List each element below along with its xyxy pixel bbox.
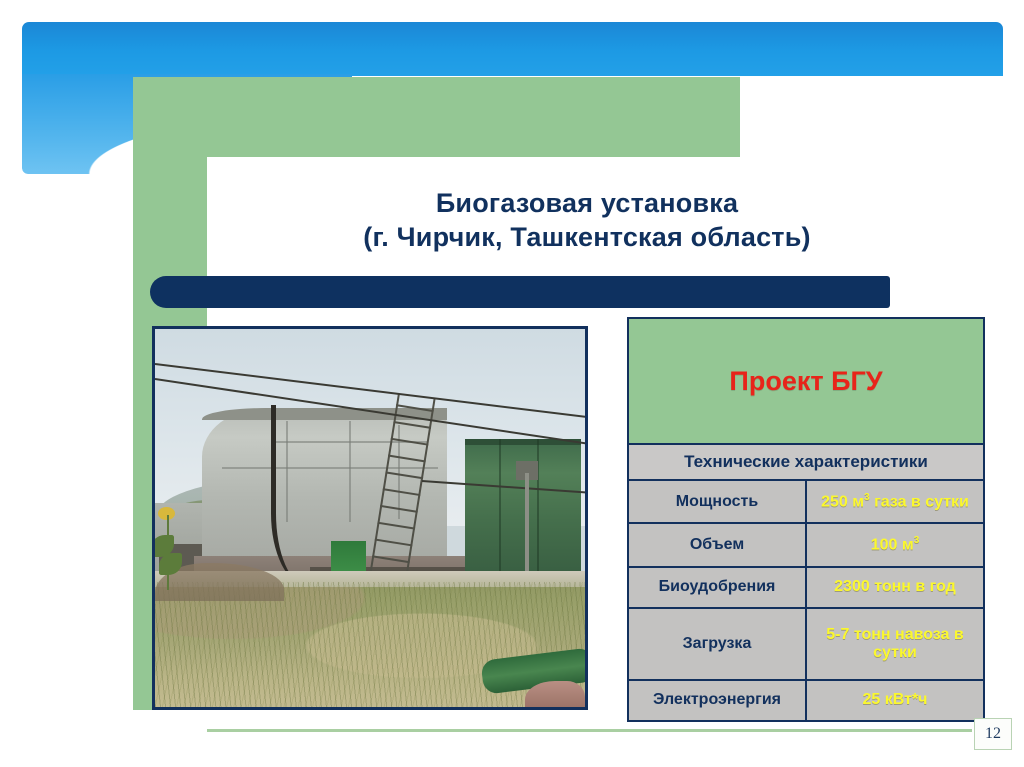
spec-label-power: Мощность [628, 480, 806, 523]
spec-label-volume: Объем [628, 523, 806, 566]
spec-label-load: Загрузка [628, 608, 806, 680]
table-row-subheader: Технические характеристики [628, 444, 984, 480]
photo-content [155, 329, 585, 707]
spec-table: Проект БГУ Технические характеристики Мо… [627, 317, 985, 722]
photo-green-tank [465, 439, 581, 575]
spec-value-load: 5-7 тонн навоза в сутки [806, 608, 984, 680]
spec-value-biofertilizer: 2300 тонн в год [806, 567, 984, 608]
page-number: 12 [974, 718, 1012, 750]
spec-value-power: 250 м3 газа в сутки [806, 480, 984, 523]
table-row: Биоудобрения 2300 тонн в год [628, 567, 984, 608]
spec-table-subheader: Технические характеристики [628, 444, 984, 480]
photo-black-hose [271, 405, 323, 586]
spec-table-title: Проект БГУ [628, 318, 984, 444]
photo-sunflower [155, 507, 189, 590]
decorative-blue-band [22, 22, 1003, 76]
title-underline-bar [150, 276, 890, 308]
spec-value-volume: 100 м3 [806, 523, 984, 566]
decorative-green-band [133, 77, 740, 157]
page-title-line1: Биогазовая установка [436, 188, 738, 218]
table-row: Загрузка 5-7 тонн навоза в сутки [628, 608, 984, 680]
page-title-line2: (г. Чирчик, Ташкентская область) [207, 220, 967, 254]
table-row: Мощность 250 м3 газа в сутки [628, 480, 984, 523]
page-title: Биогазовая установка (г. Чирчик, Ташкент… [207, 186, 967, 254]
table-row: Объем 100 м3 [628, 523, 984, 566]
biogas-plant-photo [152, 326, 588, 710]
slide-canvas: Биогазовая установка (г. Чирчик, Ташкент… [0, 0, 1024, 767]
spec-label-electricity: Электроэнергия [628, 680, 806, 721]
spec-label-biofertilizer: Биоудобрения [628, 567, 806, 608]
footer-rule [207, 729, 972, 732]
photo-green-hopper [331, 541, 365, 575]
spec-value-electricity: 25 кВт*ч [806, 680, 984, 721]
table-row-title: Проект БГУ [628, 318, 984, 444]
table-row: Электроэнергия 25 кВт*ч [628, 680, 984, 721]
